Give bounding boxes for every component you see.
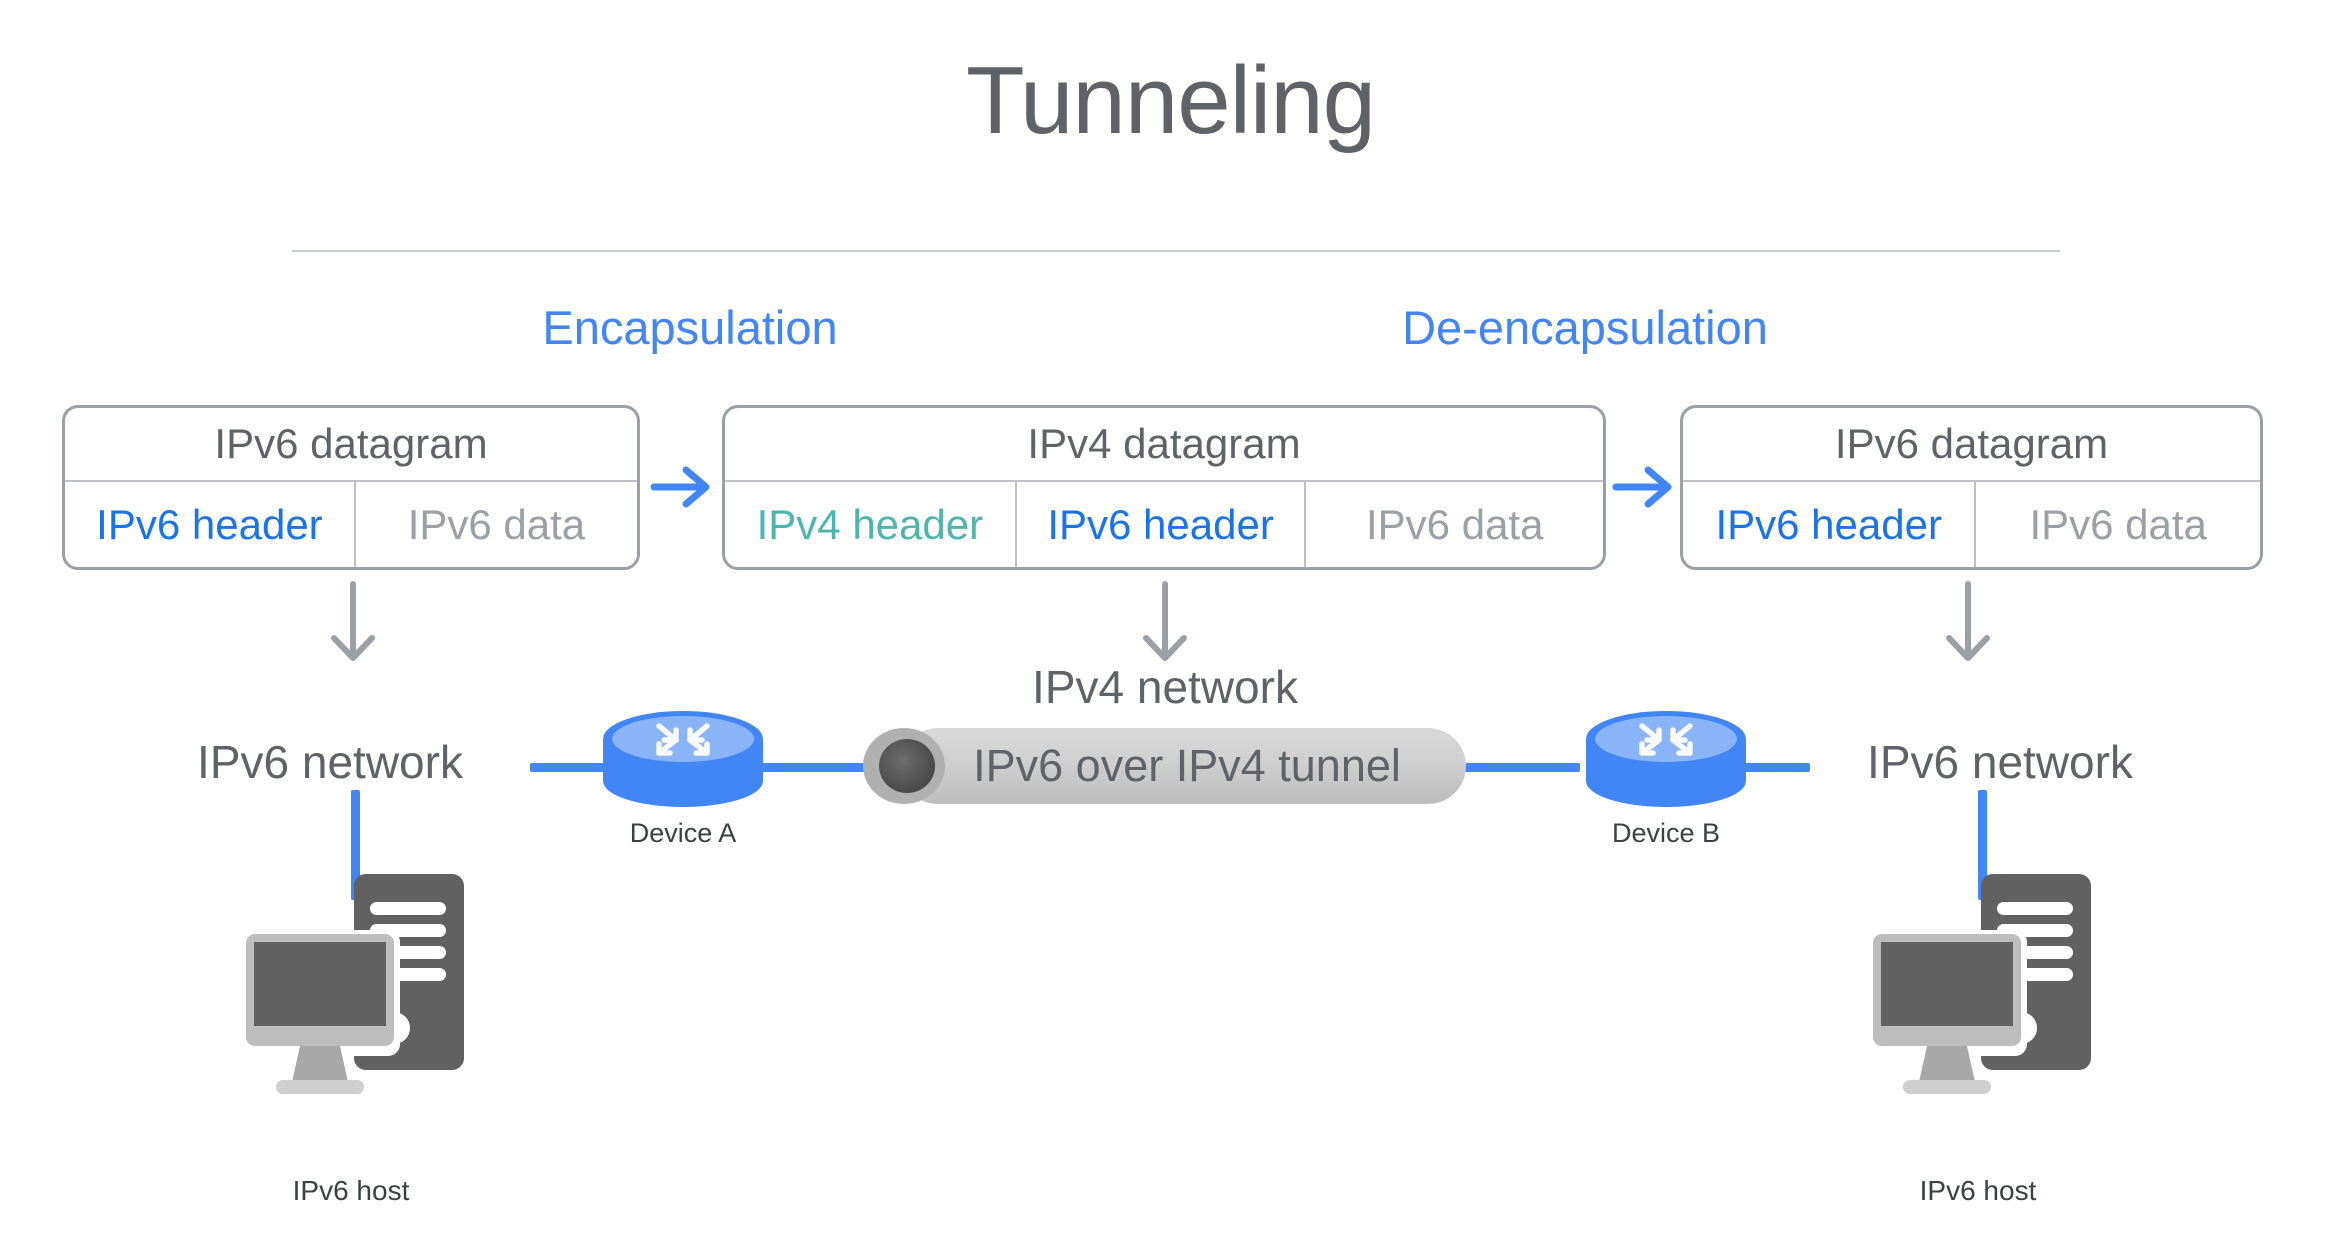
label-host-left: IPv6 host — [151, 1175, 551, 1207]
label-encapsulation: Encapsulation — [390, 300, 990, 355]
field-ipv6-data: IPv6 data — [1974, 482, 2260, 567]
field-ipv6-header: IPv6 header — [1683, 482, 1974, 567]
label-device-a: Device A — [533, 818, 833, 849]
desktop-computer-icon-right[interactable] — [1845, 862, 2111, 1152]
label-host-right: IPv6 host — [1778, 1175, 2178, 1207]
arrow-down-icon — [1940, 580, 1996, 666]
router-icon-device-b[interactable] — [1583, 707, 1749, 817]
field-ipv6-data: IPv6 data — [354, 482, 637, 567]
field-ipv6-data: IPv6 data — [1304, 482, 1603, 567]
datagram-title: IPv6 datagram — [65, 408, 637, 482]
link-line-device-a-to-tunnel — [760, 763, 870, 772]
field-ipv4-header: IPv4 header — [725, 482, 1015, 567]
datagram-fields: IPv6 header IPv6 data — [1683, 482, 2260, 567]
link-line-tunnel-to-device-b — [1460, 763, 1580, 772]
label-ipv4-network: IPv4 network — [865, 660, 1465, 714]
tunnel-cylinder-icon — [862, 727, 1466, 805]
label-ipv6-network-right: IPv6 network — [1790, 735, 2210, 789]
datagram-title: IPv4 datagram — [725, 408, 1603, 482]
desktop-computer-icon-left[interactable] — [218, 862, 484, 1152]
datagram-title: IPv6 datagram — [1683, 408, 2260, 482]
page-title: Tunneling — [0, 48, 2341, 154]
label-device-b: Device B — [1516, 818, 1816, 849]
field-ipv6-header: IPv6 header — [1015, 482, 1305, 567]
arrow-right-icon — [648, 457, 718, 517]
datagram-box-ipv6-right: IPv6 datagram IPv6 header IPv6 data — [1680, 405, 2263, 570]
datagram-box-ipv6-left: IPv6 datagram IPv6 header IPv6 data — [62, 405, 640, 570]
arrow-right-icon — [1610, 457, 1680, 517]
label-ipv6-network-left: IPv6 network — [120, 735, 540, 789]
title-divider — [292, 250, 2060, 252]
arrow-down-icon — [325, 580, 381, 666]
datagram-fields: IPv4 header IPv6 header IPv6 data — [725, 482, 1603, 567]
datagram-box-ipv4-middle: IPv4 datagram IPv4 header IPv6 header IP… — [722, 405, 1606, 570]
datagram-fields: IPv6 header IPv6 data — [65, 482, 637, 567]
label-deencapsulation: De-encapsulation — [1110, 300, 2060, 355]
field-ipv6-header: IPv6 header — [65, 482, 354, 567]
router-icon-device-a[interactable] — [600, 707, 766, 817]
arrow-down-icon — [1137, 580, 1193, 666]
